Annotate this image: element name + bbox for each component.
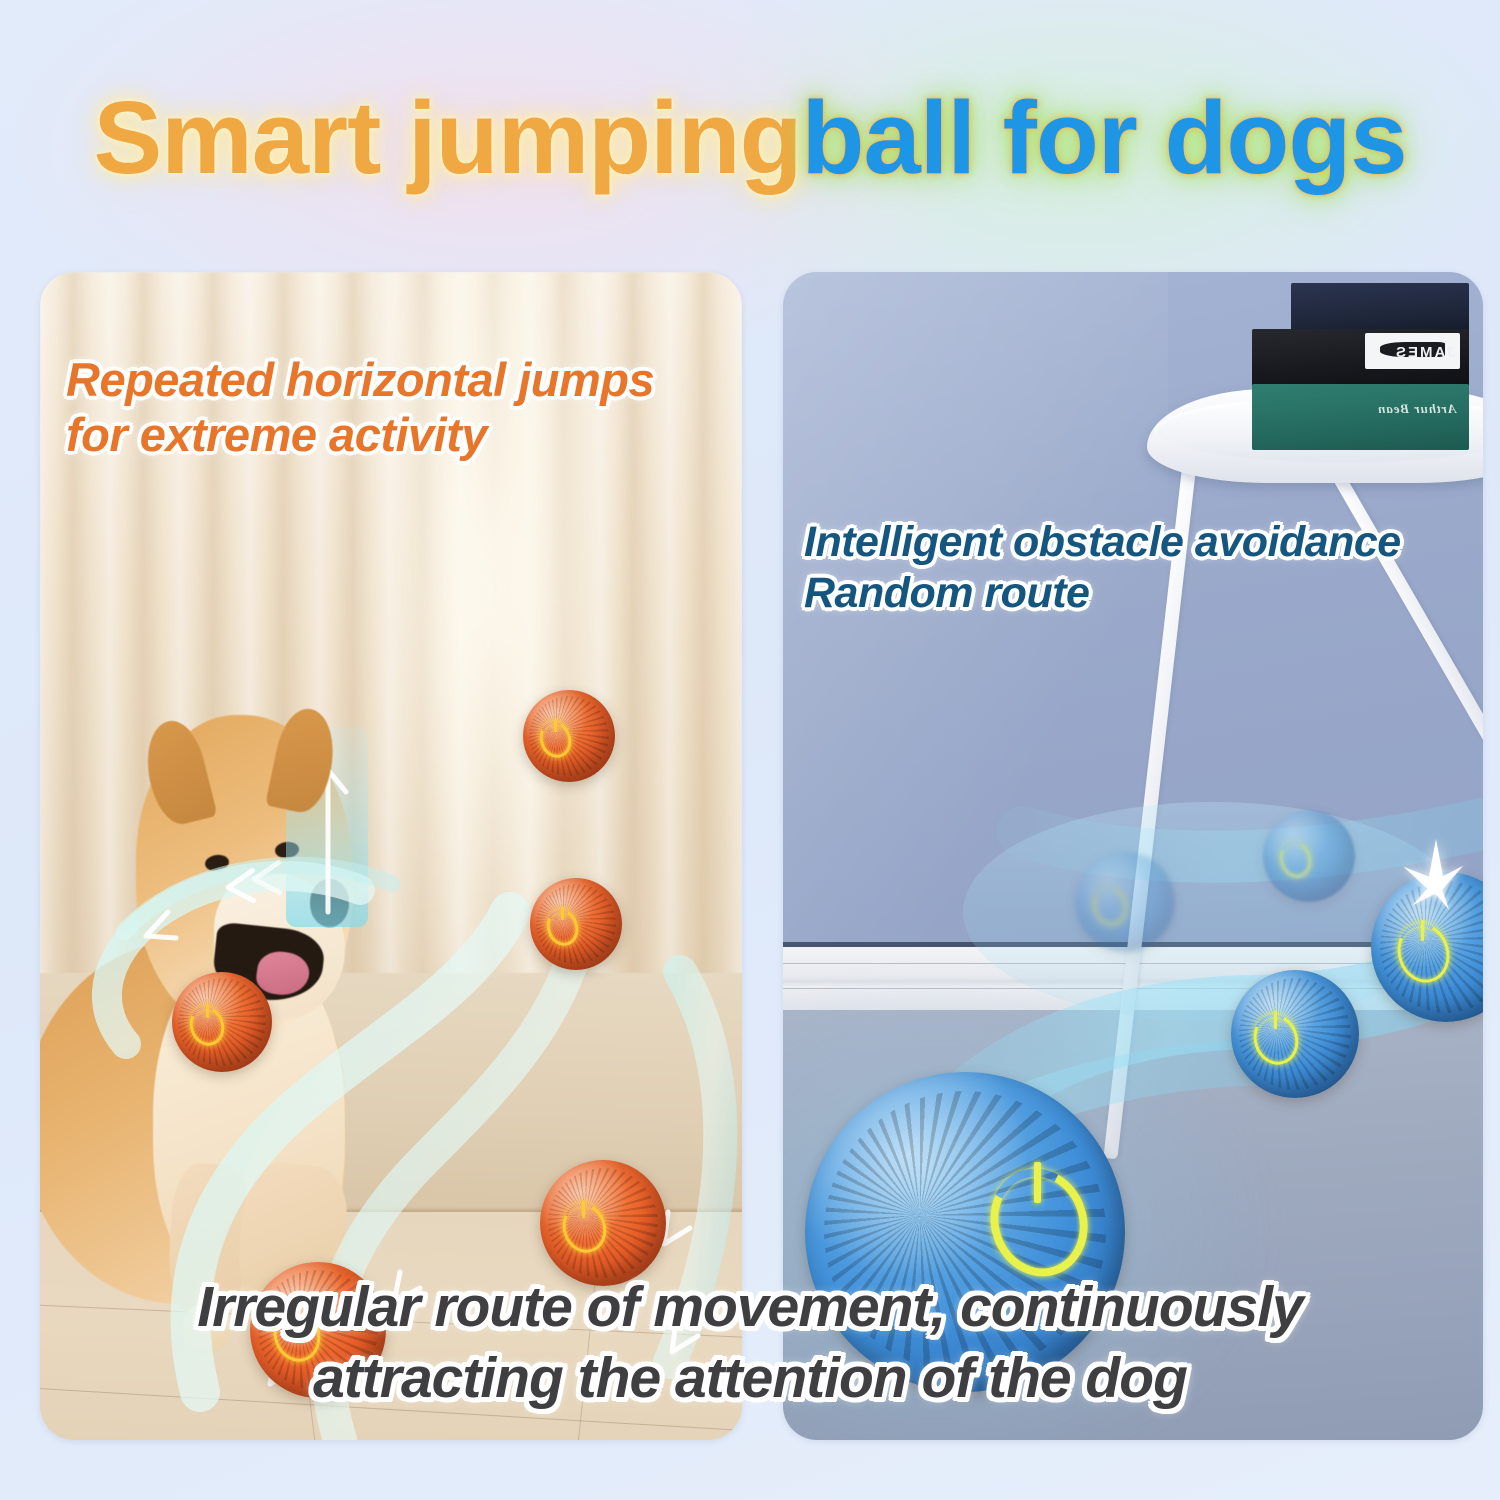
blue-ball-ghost-left [1075, 852, 1175, 952]
panel-right-obstacle-avoidance: JAMES Arthur Bean [783, 272, 1483, 1440]
orange-ball-on-floor [530, 878, 622, 970]
book-black: JAMES [1252, 329, 1469, 388]
book-green: Arthur Bean [1252, 384, 1469, 449]
orange-ball-beside-dog [172, 972, 272, 1072]
product-poster: Smart jumpingball for dogs [0, 0, 1500, 1500]
book-navy [1291, 283, 1469, 332]
bottom-caption: Irregular route of movement, continuousl… [0, 1272, 1500, 1415]
blue-ball-rolling [1231, 970, 1359, 1098]
title-part-orange: Smart jumping [93, 80, 801, 195]
book-stack: JAMES Arthur Bean [1252, 286, 1469, 450]
book-black-title: JAMES [1394, 344, 1456, 361]
right-panel-caption: Intelligent obstacle avoidance Random ro… [804, 517, 1500, 618]
orange-ball-lower-right [540, 1160, 666, 1286]
left-panel-caption: Repeated horizontal jumps for extreme ac… [66, 352, 756, 463]
book-green-title: Arthur Bean [1377, 401, 1456, 417]
blue-ball-ghost-upper [1263, 810, 1355, 902]
title-part-blue: ball for dogs [802, 80, 1407, 195]
poster-title: Smart jumpingball for dogs [0, 82, 1500, 193]
orange-ball-airborne [523, 690, 615, 782]
